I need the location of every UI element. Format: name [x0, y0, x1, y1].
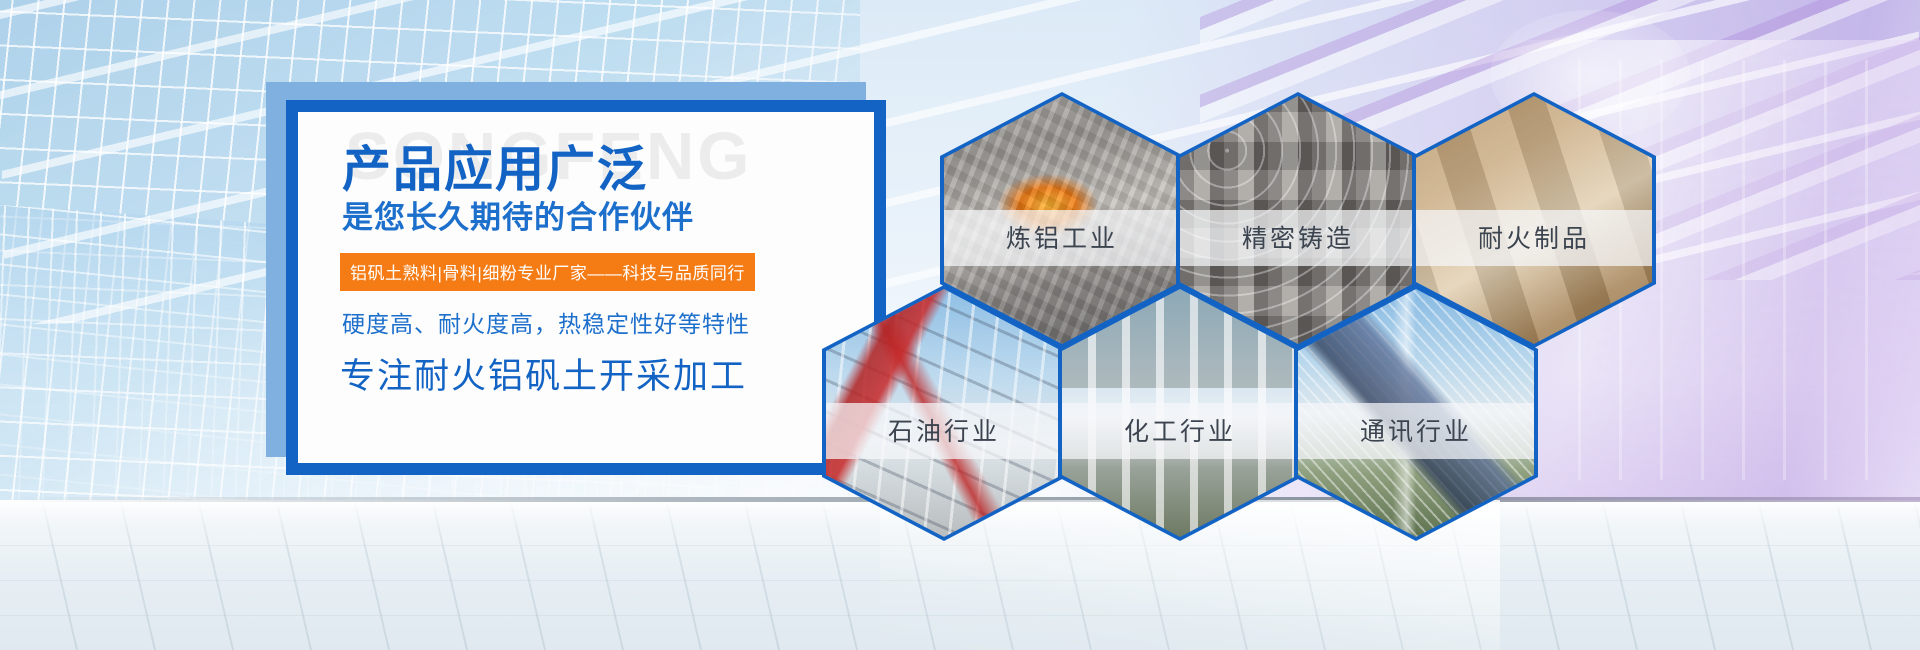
hex-label-casting: 精密铸造: [1180, 210, 1416, 266]
banner-feature-text: 硬度高、耐火度高，热稳定性好等特性: [342, 305, 750, 339]
orange-ribbon-tagline: 铝矾土熟料|骨料|细粉专业厂家——科技与品质同行: [340, 253, 755, 291]
banner-tagline: 专注耐火铝矾土开采加工: [340, 348, 747, 399]
hex-label-smelting: 炼铝工业: [944, 210, 1180, 266]
promo-banner: SONGFENG 产品应用广泛 是您长久期待的合作伙伴 铝矾土熟料|骨料|细粉专…: [0, 0, 1920, 650]
banner-headline: 产品应用广泛: [342, 130, 648, 201]
hex-label-chemical: 化工行业: [1062, 403, 1298, 459]
hex-label-refractory: 耐火制品: [1416, 210, 1652, 266]
banner-subheadline: 是您长久期待的合作伙伴: [342, 192, 694, 237]
hex-label-telecom: 通讯行业: [1298, 403, 1534, 459]
hex-label-petroleum: 石油行业: [826, 403, 1062, 459]
